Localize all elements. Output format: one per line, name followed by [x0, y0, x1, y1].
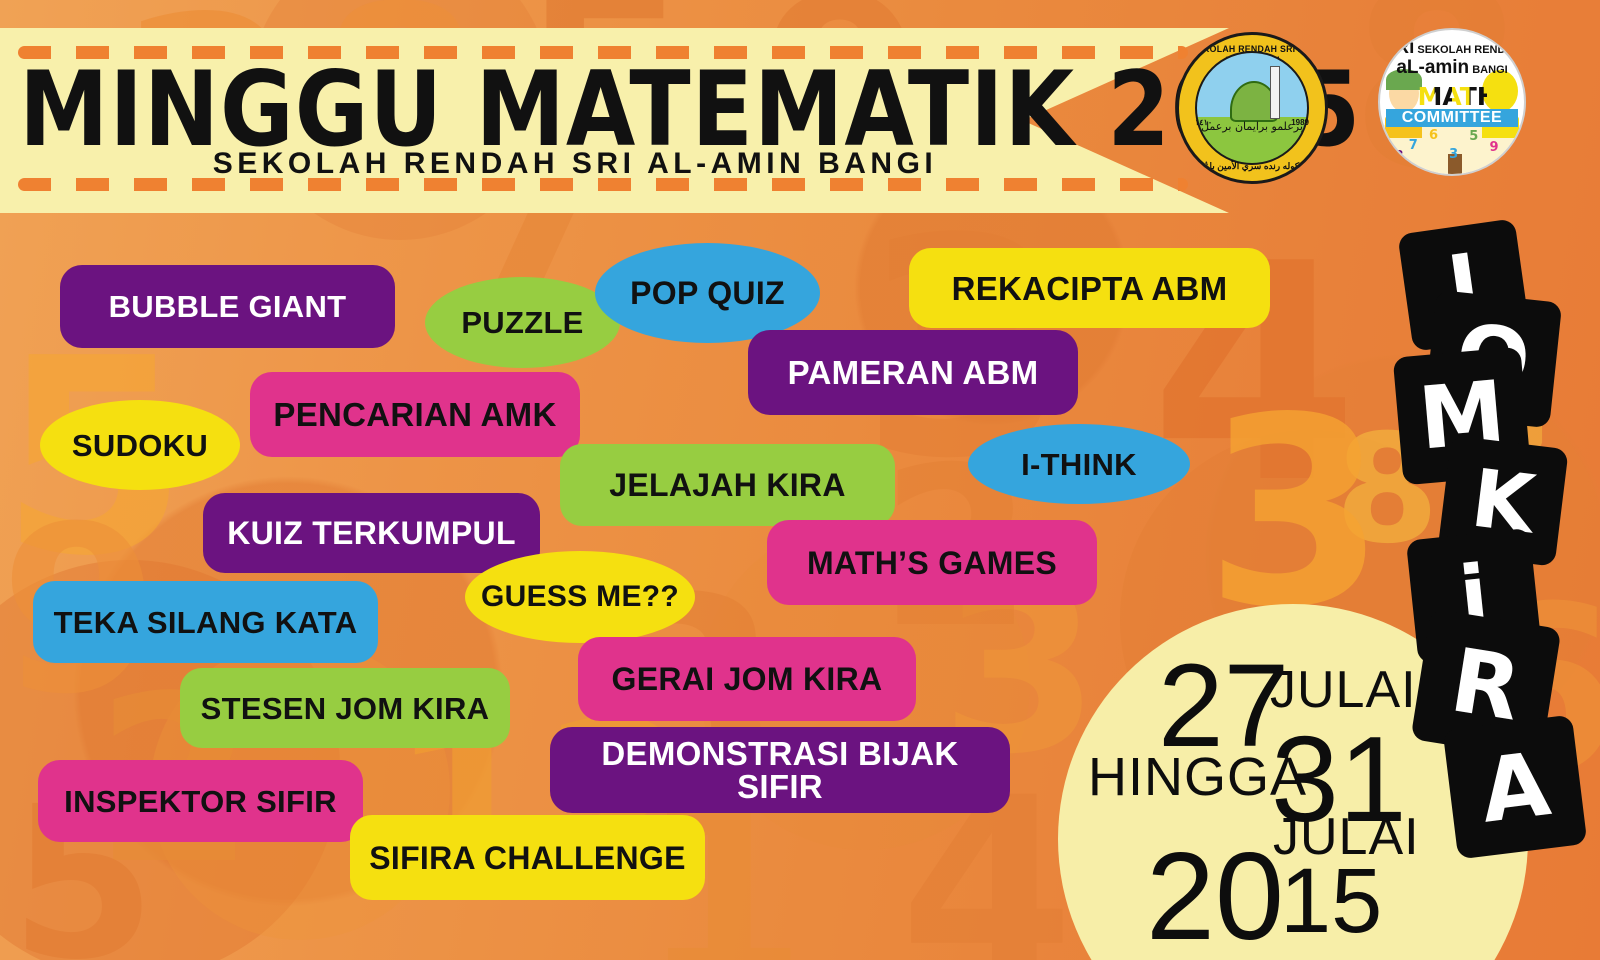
activity-tag[interactable]: STESEN JOM KIRA	[180, 668, 510, 748]
activity-tag-label: GERAI JOM KIRA	[612, 663, 883, 695]
poster-canvas: 34873285985925123143627 MINGGU MATEMATIK…	[0, 0, 1600, 960]
activity-tag[interactable]: SIFIRA CHALLENGE	[350, 815, 705, 900]
activity-tag-label: PENCARIAN AMK	[273, 398, 556, 431]
math-committee-logo: 2 7 6 5 9 8 3 4 SRi SEKOLAH RENDAH aL-am…	[1378, 28, 1526, 176]
activity-tag[interactable]: MATH’S GAMES	[767, 520, 1097, 605]
math-logo-committee-banner: COMMITTEE	[1386, 109, 1518, 127]
activity-tag-label: INSPEKTOR SIFIR	[64, 786, 337, 817]
activity-tag[interactable]: POP QUIZ	[595, 243, 820, 343]
activity-tag[interactable]: PENCARIAN AMK	[250, 372, 580, 457]
activity-tag-label: JELAJAH KIRA	[609, 469, 846, 501]
date-year-second: 15	[1280, 849, 1382, 954]
math-logo-line5: BANGI	[1472, 64, 1507, 76]
school-logo-year-gregorian: 1989	[1291, 118, 1309, 127]
date-year-first: 20	[1146, 826, 1284, 960]
activity-tag-label: MATH’S GAMES	[807, 547, 1057, 579]
activity-tag-label: STESEN JOM KIRA	[201, 693, 490, 724]
activity-tag[interactable]: I-THINK	[968, 424, 1190, 504]
activity-tag-label: KUIZ TERKUMPUL	[227, 517, 516, 549]
activity-tag[interactable]: INSPEKTOR SIFIR	[38, 760, 363, 842]
school-logo-year-hijri: ١٤١٠	[1195, 118, 1212, 127]
school-logo-arc-bottom: سكوله رنده سري الأمين باڠي	[1179, 161, 1325, 172]
activity-tag[interactable]: BUBBLE GIANT	[60, 265, 395, 348]
activity-tag[interactable]: PUZZLE	[425, 277, 620, 368]
math-logo-word: MATH	[1417, 82, 1486, 111]
school-crest-logo: SEKOLAH RENDAH SRI AL-AMIN BANGI برعلمو …	[1176, 32, 1328, 184]
activity-tag[interactable]: PAMERAN ABM	[748, 330, 1078, 415]
page-subtitle: SEKOLAH RENDAH SRI AL-AMIN BANGI	[30, 147, 1120, 181]
activity-tag-label: PUZZLE	[461, 307, 583, 338]
activity-tag-label: TEKA SILANG KATA	[54, 607, 358, 638]
activity-tag[interactable]: JELAJAH KIRA	[560, 444, 895, 526]
jom-kira-tile: A	[1443, 715, 1588, 860]
activity-tag[interactable]: TEKA SILANG KATA	[33, 581, 378, 663]
math-logo-line1: SRi	[1383, 37, 1415, 58]
activity-tag[interactable]: SUDOKU	[40, 400, 240, 490]
activity-tag-label: PAMERAN ABM	[788, 356, 1039, 389]
activity-tag-label: SIFIRA CHALLENGE	[369, 842, 686, 874]
activity-tag-label: GUESS ME??	[481, 582, 679, 612]
activity-tag-label: POP QUIZ	[630, 277, 785, 309]
activity-tag[interactable]: GUESS ME??	[465, 551, 695, 643]
activity-tag[interactable]: REKACIPTA ABM	[909, 248, 1270, 328]
math-logo-school-name: SRi SEKOLAH RENDAH aL-amin BANGI	[1380, 38, 1524, 78]
school-logo-inner	[1195, 51, 1309, 165]
math-logo-line4: aL-amin	[1396, 57, 1469, 78]
activity-tag[interactable]: DEMONSTRASI BIJAK SIFIR	[550, 727, 1010, 813]
activity-tag-label: REKACIPTA ABM	[952, 272, 1228, 305]
activity-tag[interactable]: GERAI JOM KIRA	[578, 637, 916, 721]
activity-tag-label: BUBBLE GIANT	[109, 291, 347, 322]
activity-tag-label: DEMONSTRASI BIJAK SIFIR	[564, 737, 996, 803]
activity-tag-label: SUDOKU	[72, 430, 208, 461]
math-logo-line2: SEKOLAH	[1417, 44, 1471, 56]
math-logo-line3: RENDAH	[1474, 44, 1521, 56]
activity-tag[interactable]: KUIZ TERKUMPUL	[203, 493, 540, 573]
mosque-minaret-icon	[1270, 66, 1281, 119]
activity-tag-label: I-THINK	[1021, 449, 1137, 480]
jom-kira-letter: A	[1475, 732, 1555, 843]
